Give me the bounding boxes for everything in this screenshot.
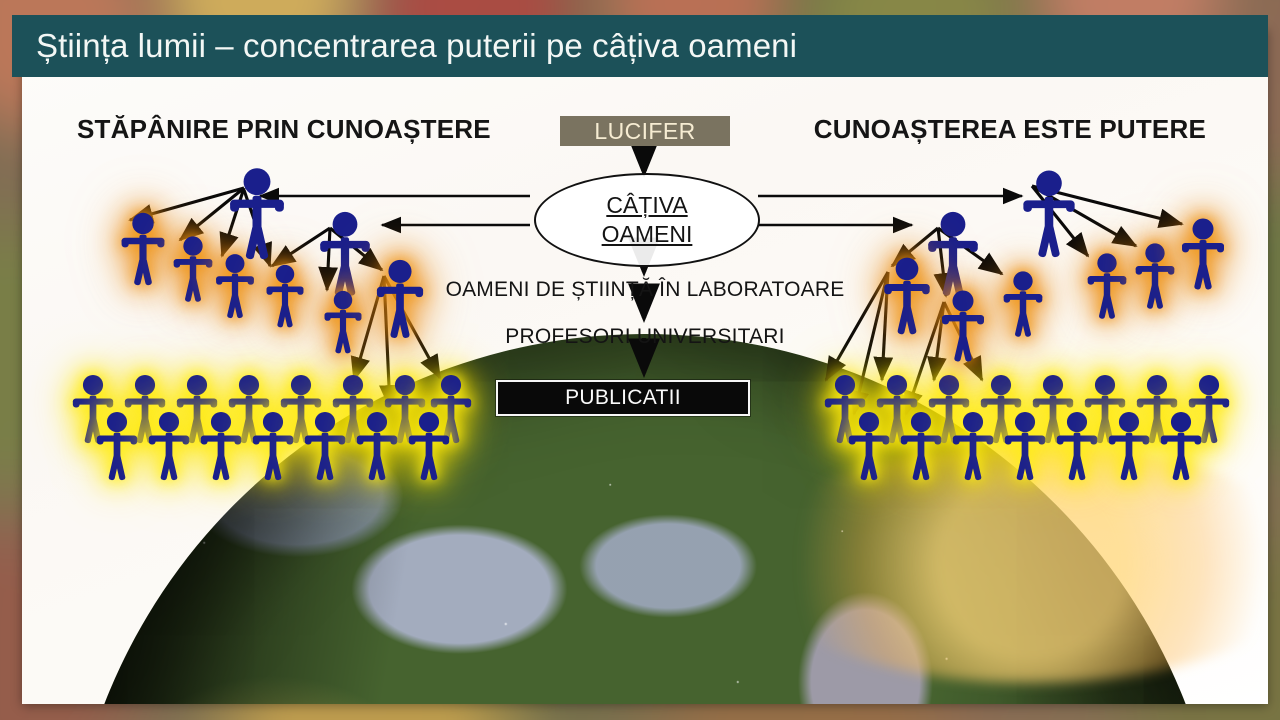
- professors-label: PROFESORI UNIVERSITARI: [22, 325, 1268, 349]
- heading-right: CUNOAȘTEREA ESTE PUTERE: [814, 114, 1206, 145]
- content-panel: LUCIFER CÂȚIVA OAMENI OAMENI DE ȘTIINȚĂ …: [22, 28, 1268, 704]
- heading-left: STĂPÂNIRE PRIN CUNOAȘTERE: [77, 114, 491, 145]
- ellipse-line-2: OAMENI: [602, 220, 693, 249]
- stick-figure-left-crowd-front: [147, 411, 191, 482]
- slide-title-bar: Știința lumii – concentrarea puterii pe …: [12, 15, 1268, 77]
- stick-figure-left-crowd-front: [199, 411, 243, 482]
- stick-figure-left-crowd-front: [407, 411, 451, 482]
- scientists-label: OAMENI DE ȘTIINȚĂ ÎN LABORATOARE: [22, 278, 1268, 302]
- stick-figure-right-crowd-front: [1003, 411, 1047, 482]
- publications-banner: PUBLICATII: [496, 380, 750, 416]
- cativa-oameni-ellipse: CÂȚIVA OAMENI: [534, 173, 760, 267]
- stick-figure-right-crowd-front: [1159, 411, 1203, 482]
- stick-figure-right-leader: [1021, 170, 1077, 260]
- publications-label: PUBLICATII: [565, 386, 681, 410]
- stick-figure-right-crowd-front: [847, 411, 891, 482]
- lucifer-banner: LUCIFER: [560, 116, 730, 146]
- stick-figure-right-crowd-front: [899, 411, 943, 482]
- stick-figure-left-crowd-front: [303, 411, 347, 482]
- lucifer-label: LUCIFER: [594, 118, 695, 145]
- page-title: Știința lumii – concentrarea puterii pe …: [36, 27, 797, 65]
- stick-figure-left-crowd-front: [251, 411, 295, 482]
- stick-figure-left-leader: [228, 168, 287, 263]
- slide-stage: LUCIFER CÂȚIVA OAMENI OAMENI DE ȘTIINȚĂ …: [0, 0, 1280, 720]
- stick-figure-left-crowd-front: [95, 411, 139, 482]
- stick-figure-left-elite: [120, 212, 167, 287]
- ellipse-line-1: CÂȚIVA: [606, 191, 687, 220]
- stick-figure-right-crowd-front: [1055, 411, 1099, 482]
- stick-figure-right-crowd-front: [1107, 411, 1151, 482]
- stick-figure-left-crowd-front: [355, 411, 399, 482]
- stick-figure-right-crowd-front: [951, 411, 995, 482]
